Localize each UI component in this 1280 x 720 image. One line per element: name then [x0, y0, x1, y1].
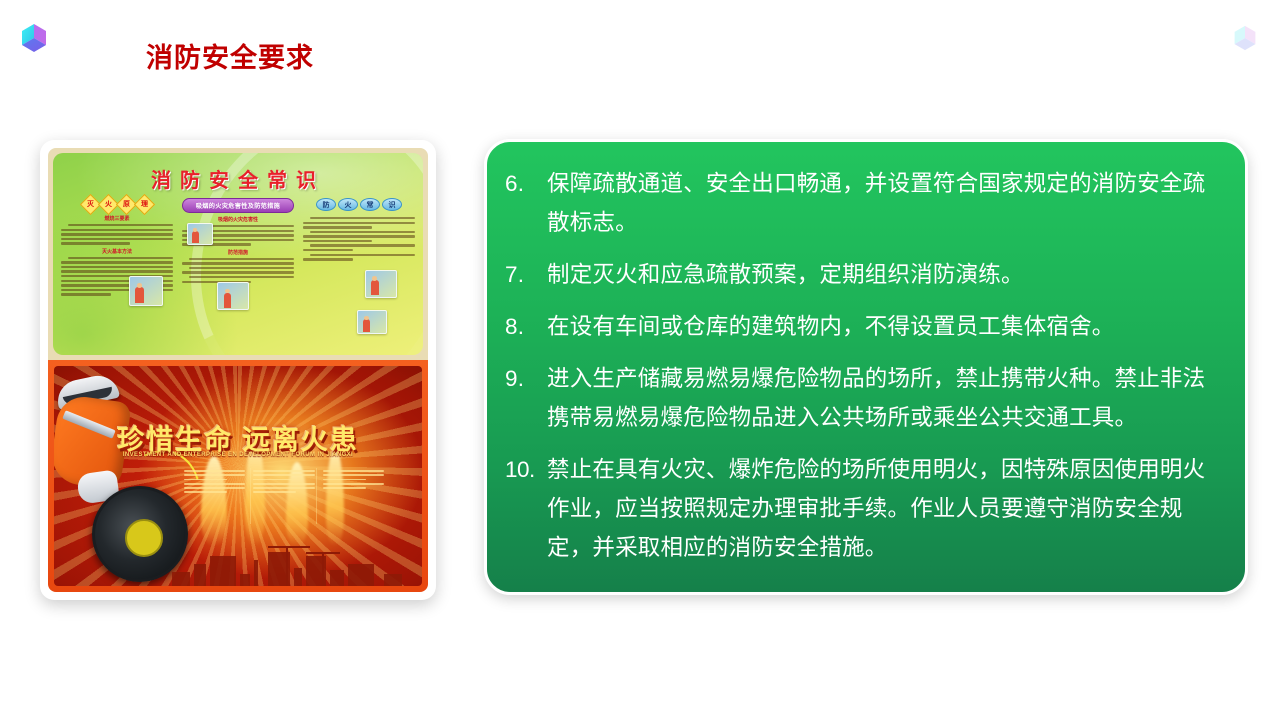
list-item-text: 禁止在具有火灾、爆炸危险的场所使用明火，因特殊原因使用明火作业，应当按照规定办理… [547, 450, 1219, 567]
requirements-panel: 6. 保障疏散通道、安全出口畅通，并设置符合国家规定的消防安全疏散标志。 7. … [484, 139, 1248, 595]
poster-section-extinguish: 灭 火 原 理 燃烧三要素 灭火基本方法 [59, 195, 175, 351]
poster-section-prevention: 防 火 常 识 [301, 195, 417, 351]
slide-header: 消防安全要求 [0, 0, 1280, 90]
list-item-number: 9. [503, 359, 547, 398]
hexagon-cube-logo-faded-icon [1232, 24, 1258, 52]
poster-stack: 消防安全常识 灭 火 原 理 燃烧三要素 [48, 148, 428, 592]
illustration-thumbnail [365, 270, 397, 298]
page-title: 消防安全要求 [146, 36, 314, 75]
poster-subtitle: INVESTMENT AND ENTERPRISE EN DEVELOPMENT… [54, 452, 422, 458]
heading-char: 灭 [87, 201, 94, 208]
list-item-text: 在设有车间或仓库的建筑物内，不得设置员工集体宿舍。 [547, 307, 1219, 346]
list-item: 7. 制定灭火和应急疏散预案，定期组织消防演练。 [503, 255, 1219, 294]
section-heading-diamonds: 灭 火 原 理 [59, 197, 175, 212]
section-subheading: 燃烧三要素 [59, 215, 175, 222]
list-item-number: 8. [503, 307, 547, 346]
poster-caption-columns [184, 470, 384, 496]
list-item-text: 进入生产储藏易燃易爆危险物品的场所，禁止携带火种。禁止非法携带易燃易爆危险物品进… [547, 359, 1219, 437]
poster-image-card: 消防安全常识 灭 火 原 理 燃烧三要素 [40, 140, 436, 600]
illustration-thumbnail [187, 223, 213, 245]
section-heading-pill: 吸烟的火灾危害性及防范措施 [182, 198, 293, 213]
illustration-thumbnail [217, 282, 249, 310]
body-text-block [59, 224, 175, 245]
cherish-life-fire-poster: 珍惜生命 远离火患 INVESTMENT AND ENTERPRISE EN D… [48, 360, 428, 592]
list-item: 10. 禁止在具有火灾、爆炸危险的场所使用明火，因特殊原因使用明火作业，应当按照… [503, 450, 1219, 567]
heading-char: 原 [123, 201, 130, 208]
illustration-thumbnail [357, 310, 387, 334]
list-item-number: 10. [503, 450, 547, 489]
list-item: 8. 在设有车间或仓库的建筑物内，不得设置员工集体宿舍。 [503, 307, 1219, 346]
list-item: 9. 进入生产储藏易燃易爆危险物品的场所，禁止携带火种。禁止非法携带易燃易爆危险… [503, 359, 1219, 437]
poster-section-smoking: 吸烟的火灾危害性及防范措施 吸烟的火灾危害性 防范措施 [180, 195, 296, 351]
fire-safety-knowledge-poster: 消防安全常识 灭 火 原 理 燃烧三要素 [48, 148, 428, 360]
section-subheading: 吸烟的火灾危害性 [180, 216, 296, 223]
list-item-number: 7. [503, 255, 547, 294]
heading-char: 火 [338, 198, 358, 211]
list-item-text: 保障疏散通道、安全出口畅通，并设置符合国家规定的消防安全疏散标志。 [547, 164, 1219, 242]
list-item-text: 制定灭火和应急疏散预案，定期组织消防演练。 [547, 255, 1219, 294]
section-subheading-2: 灭火基本方法 [59, 248, 175, 255]
heading-char: 防 [316, 198, 336, 211]
heading-char: 识 [382, 198, 402, 211]
heading-char: 火 [105, 201, 112, 208]
list-item: 6. 保障疏散通道、安全出口畅通，并设置符合国家规定的消防安全疏散标志。 [503, 164, 1219, 242]
body-text-block [180, 258, 296, 283]
requirements-list: 6. 保障疏散通道、安全出口畅通，并设置符合国家规定的消防安全疏散标志。 7. … [503, 164, 1219, 567]
city-skyline-silhouette [54, 542, 422, 586]
heading-char: 理 [141, 201, 148, 208]
list-item-number: 6. [503, 164, 547, 203]
section-heading-ovals: 防 火 常 识 [301, 198, 417, 211]
hexagon-cube-logo-icon [19, 22, 49, 54]
section-subheading-2: 防范措施 [180, 249, 296, 256]
body-text-block [301, 217, 417, 261]
heading-char: 常 [360, 198, 380, 211]
illustration-thumbnail [129, 276, 163, 306]
poster-title: 消防安全常识 [53, 164, 423, 193]
